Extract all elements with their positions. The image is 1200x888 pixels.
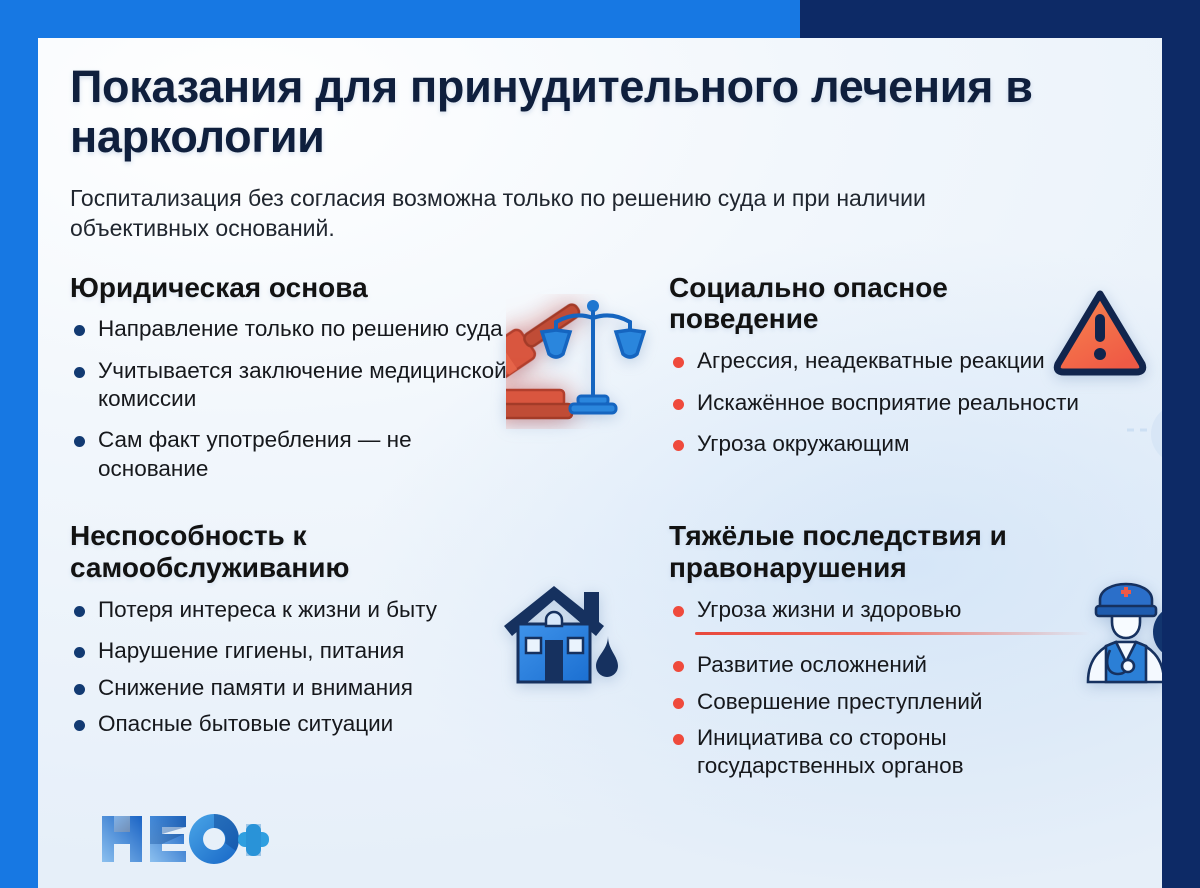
list-item: Снижение памяти и внимания bbox=[70, 674, 518, 702]
list-item: Искажённое восприятие реальности bbox=[669, 389, 1117, 417]
list-item: Опасные бытовые ситуации bbox=[70, 710, 518, 738]
list-item: Учитывается заключение медицинской комис… bbox=[70, 357, 518, 414]
brand-logo bbox=[98, 812, 270, 866]
list-item: Инициатива со стороны государственных ор… bbox=[669, 724, 1117, 781]
list-item: Совершение преступлений bbox=[669, 688, 1117, 716]
section-heading: Неспособность к самообслуживанию bbox=[70, 520, 490, 584]
list-item: Направление только по решению суда bbox=[70, 315, 518, 343]
list-item: Развитие осложнений bbox=[669, 651, 1117, 679]
poster-canvas: Показания для принудительного лечения в … bbox=[38, 38, 1162, 888]
frame-navy-top bbox=[855, 0, 1200, 40]
house-icon bbox=[496, 578, 638, 696]
section-heading: Юридическая основа bbox=[70, 272, 490, 304]
list-item: Нарушение гигиены, питания bbox=[70, 637, 518, 665]
section-severe-consequences: Тяжёлые последствия и правонарушения Угр… bbox=[657, 496, 1128, 789]
list-item: Сам факт употребления — не основание bbox=[70, 426, 518, 483]
page-subtitle: Госпитализация без согласия возможна тол… bbox=[70, 183, 1000, 244]
warning-triangle-icon bbox=[1050, 286, 1150, 378]
list-item-lead: Угроза жизни и здоровью bbox=[669, 596, 1117, 624]
doctor-icon bbox=[1060, 578, 1162, 690]
section-heading: Тяжёлые последствия и правонарушения bbox=[669, 520, 1069, 584]
section-divider bbox=[695, 632, 1090, 635]
poster-frame: Показания для принудительного лечения в … bbox=[0, 0, 1200, 888]
page-title: Показания для принудительного лечения в … bbox=[70, 62, 1128, 163]
list-item: Потеря интереса к жизни и быту bbox=[70, 596, 518, 624]
list-item: Угроза окружающим bbox=[669, 430, 1117, 458]
scales-gavel-icon bbox=[506, 294, 656, 429]
section-heading: Социально опасное поведение bbox=[669, 272, 1069, 336]
